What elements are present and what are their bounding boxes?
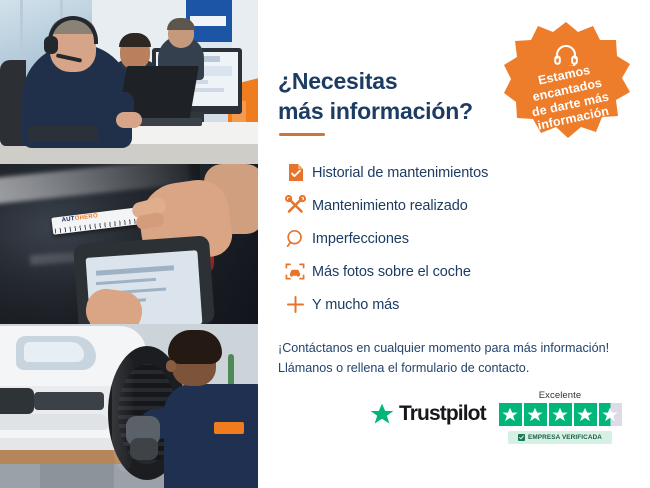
rating-label: Excelente — [490, 390, 630, 401]
star-rating — [490, 403, 630, 426]
feature-item-historial: Historial de mantenimientos — [278, 156, 608, 189]
mechanic-wheel-photo — [0, 324, 258, 488]
feature-label: Y mucho más — [312, 297, 399, 313]
trustpilot-logo: Trustpilot — [370, 402, 486, 426]
verified-label: EMPRESA VERIFICADA — [528, 434, 602, 441]
page-title: ¿Necesitas más información? — [278, 67, 528, 126]
photo-strip: AUTOHERO — [0, 0, 258, 488]
wrench-screwdriver-icon — [278, 195, 312, 216]
trustpilot-wordmark: Trustpilot — [399, 402, 486, 426]
star-2 — [524, 403, 547, 426]
paragraph-line-1: ¡Contáctanos en cualquier momento para m… — [278, 341, 609, 355]
document-check-icon — [278, 163, 312, 182]
feature-label: Mantenimiento realizado — [312, 198, 468, 214]
trustpilot-widget[interactable]: Trustpilot Excelente EMPRESA VERIFICADA — [370, 390, 630, 452]
star-1 — [499, 403, 522, 426]
trustpilot-star-icon — [370, 403, 394, 426]
trustpilot-rating: Excelente EMPRESA VERIFICADA — [490, 390, 630, 444]
star-4 — [574, 403, 597, 426]
feature-item-mantenimiento: Mantenimiento realizado — [278, 189, 608, 222]
headline-line-1: ¿Necesitas — [278, 68, 397, 94]
feature-label: Historial de mantenimientos — [312, 165, 488, 181]
magnifier-icon — [278, 229, 312, 248]
call-center-agents-photo — [0, 0, 258, 164]
check-box-icon — [518, 434, 525, 441]
feature-item-imperfecciones: Imperfecciones — [278, 222, 608, 255]
title-underline-rule — [279, 133, 325, 136]
badge-text: Estamos encantados de darte más informac… — [490, 8, 642, 160]
promo-card: AUTOHERO ¿Necesitas — [0, 0, 650, 488]
contact-paragraph: ¡Contáctanos en cualquier momento para m… — [278, 338, 628, 379]
headline-line-2: más información? — [278, 98, 473, 124]
feature-item-mas: Y mucho más — [278, 288, 608, 321]
paragraph-line-2: Llámanos o rellena el formulario de cont… — [278, 361, 529, 375]
promo-badge: Estamos encantados de darte más informac… — [502, 20, 630, 148]
star-3 — [549, 403, 572, 426]
plus-icon — [278, 295, 312, 314]
content-panel: ¿Necesitas más información? Estamos en — [258, 0, 650, 488]
car-inspection-ruler-photo: AUTOHERO — [0, 164, 258, 324]
car-scan-icon — [278, 262, 312, 281]
feature-list: Historial de mantenimientos Mantenimient… — [278, 156, 608, 321]
feature-item-fotos: Más fotos sobre el coche — [278, 255, 608, 288]
feature-label: Más fotos sobre el coche — [312, 264, 471, 280]
verified-company-badge: EMPRESA VERIFICADA — [508, 431, 612, 444]
star-5-half — [599, 403, 622, 426]
feature-label: Imperfecciones — [312, 231, 409, 247]
